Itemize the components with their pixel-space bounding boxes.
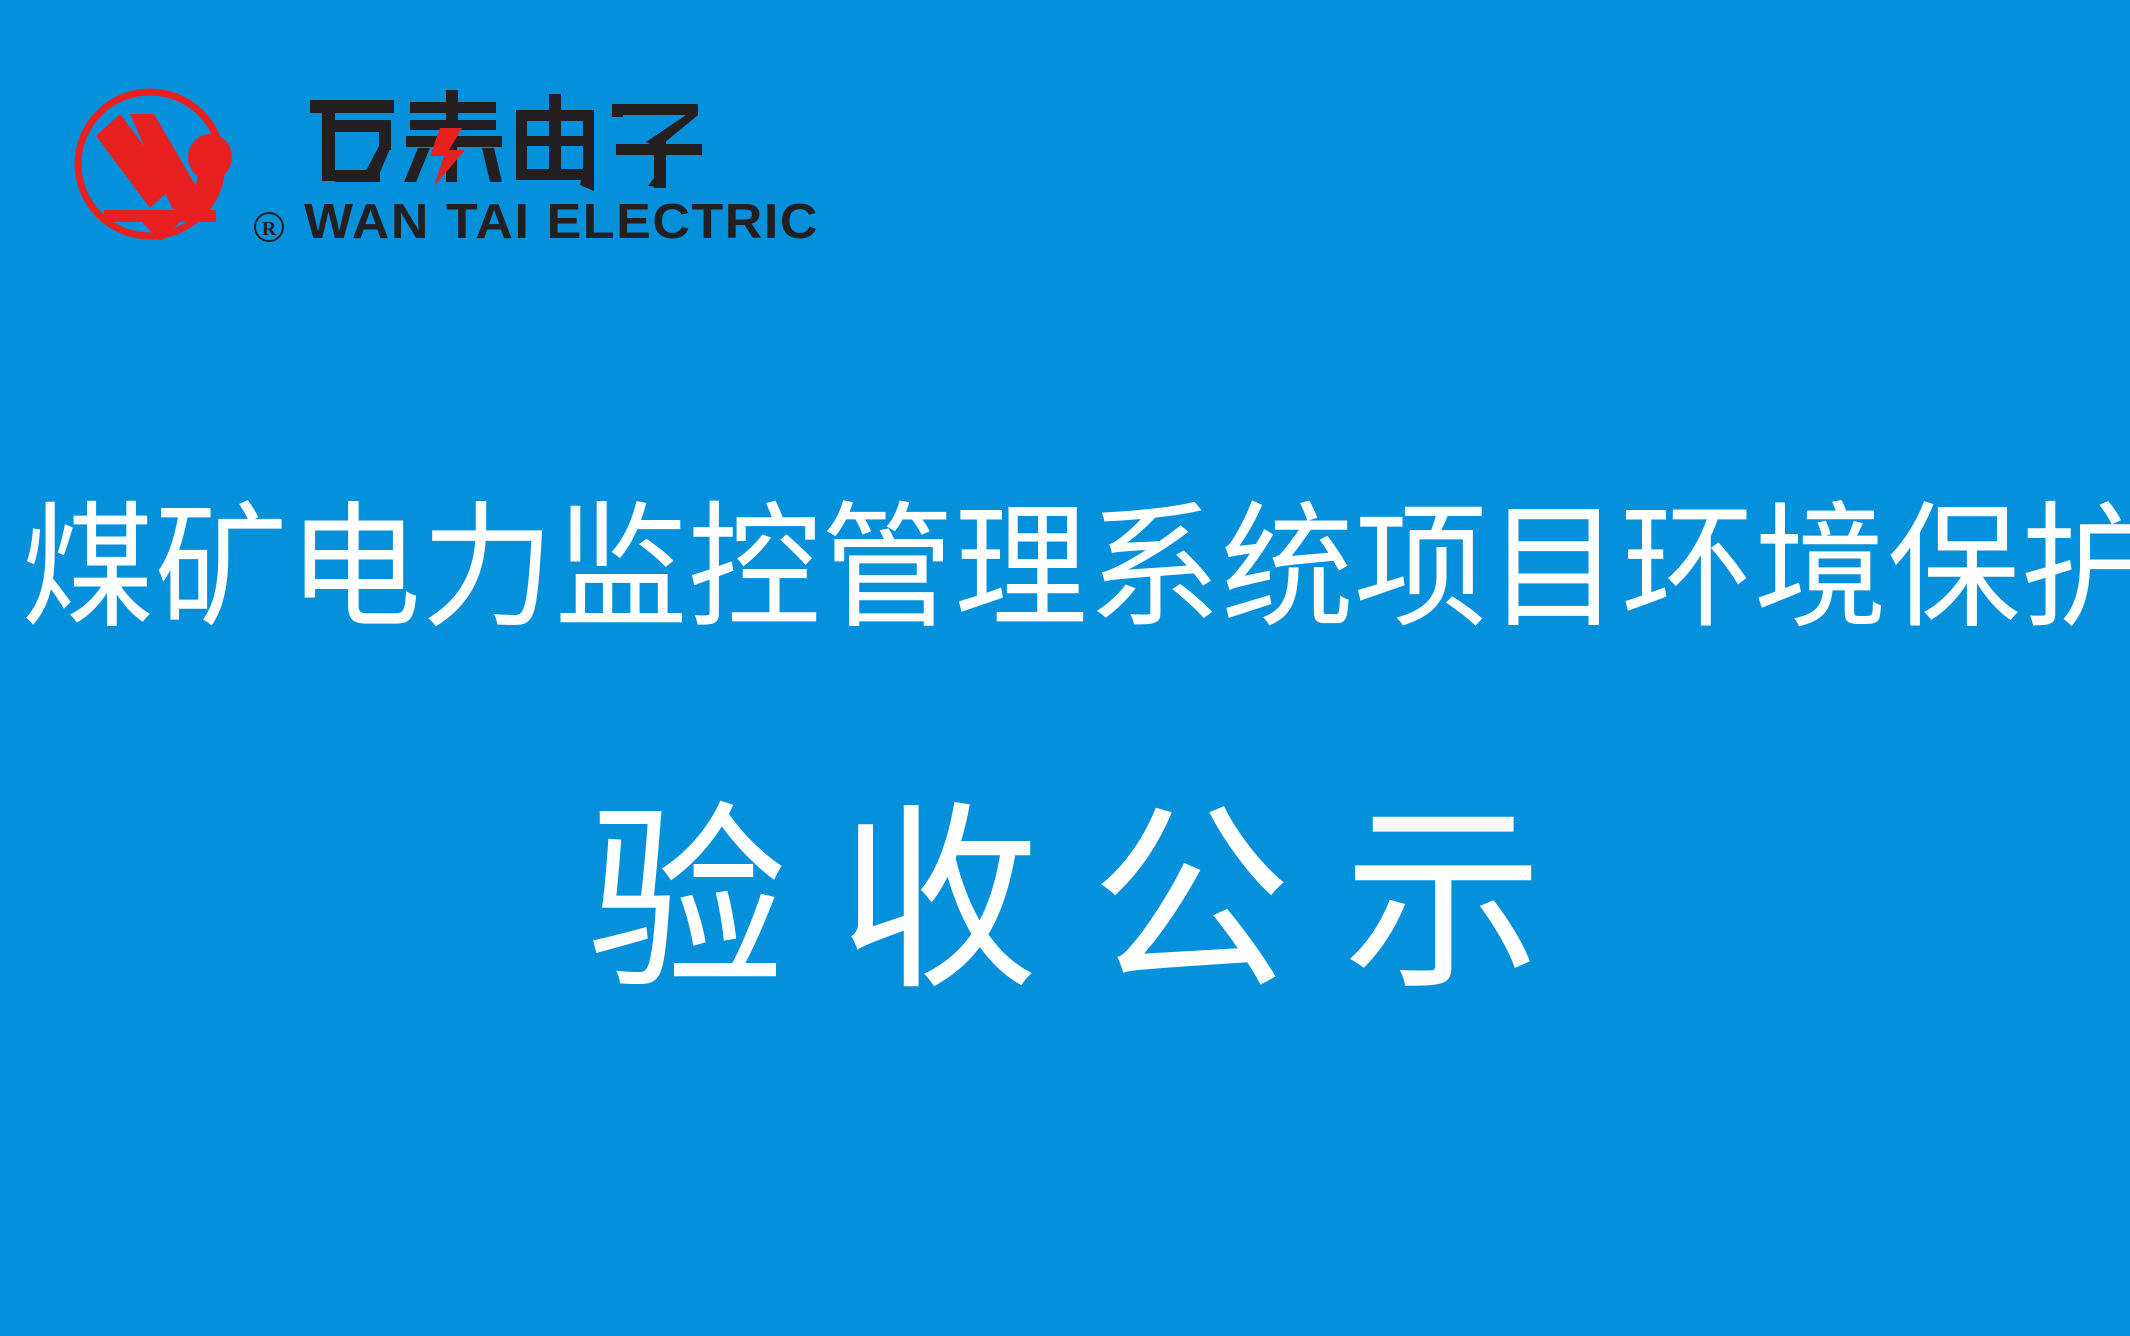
company-logo: R xyxy=(68,88,808,250)
announcement-title-line2: 验收公示 xyxy=(0,790,2130,1014)
announcement-slide: R xyxy=(0,0,2130,1336)
wantai-w-emblem-icon xyxy=(68,88,250,240)
announcement-title-line1: 煤矿电力监控管理系统项目环境保护 xyxy=(21,496,2108,643)
svg-text:R: R xyxy=(262,218,277,240)
registered-trademark-icon: R xyxy=(252,210,286,244)
company-name-en: WAN TAI ELECTRIC xyxy=(304,194,819,250)
company-name-cn xyxy=(306,86,706,198)
